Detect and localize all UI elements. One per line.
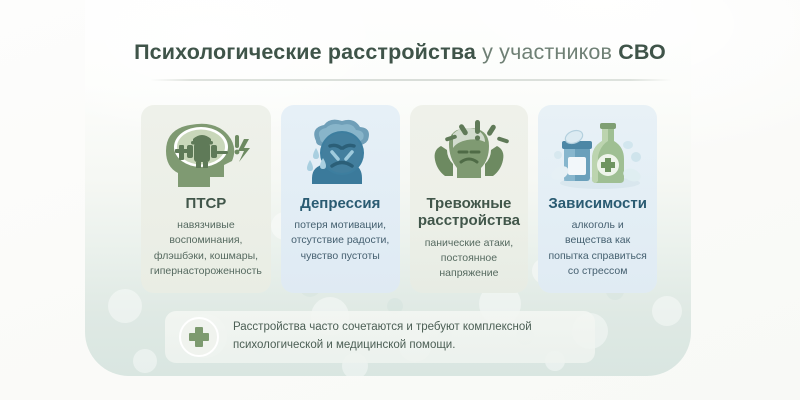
card-title: Депрессия: [300, 195, 380, 212]
infographic-canvas: Психологические расстройства у участнико…: [0, 0, 800, 400]
bottle-pills-icon: [550, 117, 646, 191]
card-addiction[interactable]: Зависимости алкоголь и вещества как попы…: [538, 105, 657, 293]
medical-cross-icon: [188, 326, 210, 348]
card-description: панические атаки, постоянное напряжение: [416, 236, 523, 282]
icon-container: [296, 115, 384, 193]
card-title: Тревожные расстройства: [416, 195, 523, 230]
card-description: алкоголь и вещества как попытка справить…: [544, 218, 651, 279]
head-soldier-flashback-icon: [160, 117, 252, 191]
sad-face-raincloud-icon: [296, 116, 384, 192]
card-description: потеря мотивации, отсутствие радости, чу…: [287, 218, 394, 264]
medical-cross-badge: [179, 317, 219, 357]
card-title: ПТСР: [186, 195, 227, 212]
icon-container: [160, 115, 252, 193]
icon-container: [550, 115, 646, 193]
card-title: Зависимости: [548, 195, 647, 212]
bottle: [592, 123, 624, 183]
card-depression[interactable]: Депрессия потеря мотивации, отсутствие р…: [281, 105, 400, 293]
card-ptsr[interactable]: ПТСР навязчивые воспоминания, флэшбэки, …: [141, 105, 271, 293]
summary-note: Расстройства часто сочетаются и требуют …: [165, 311, 595, 363]
title-strong-2: СВО: [618, 40, 666, 64]
title-strong: Психологические расстройства: [134, 40, 476, 64]
page-title: Психологические расстройства у участнико…: [0, 40, 800, 65]
title-divider: [150, 79, 672, 81]
icon-container: [423, 115, 515, 193]
summary-note-text: Расстройства часто сочетаются и требуют …: [233, 319, 581, 355]
card-anxiety[interactable]: Тревожные расстройства панические атаки,…: [410, 105, 529, 293]
title-light: у участников: [476, 40, 618, 64]
stressed-head-hands-icon: [423, 118, 515, 190]
card-description: навязчивые воспоминания, флэшбэки, кошма…: [147, 218, 265, 279]
disorder-card-list: ПТСР навязчивые воспоминания, флэшбэки, …: [141, 105, 657, 293]
